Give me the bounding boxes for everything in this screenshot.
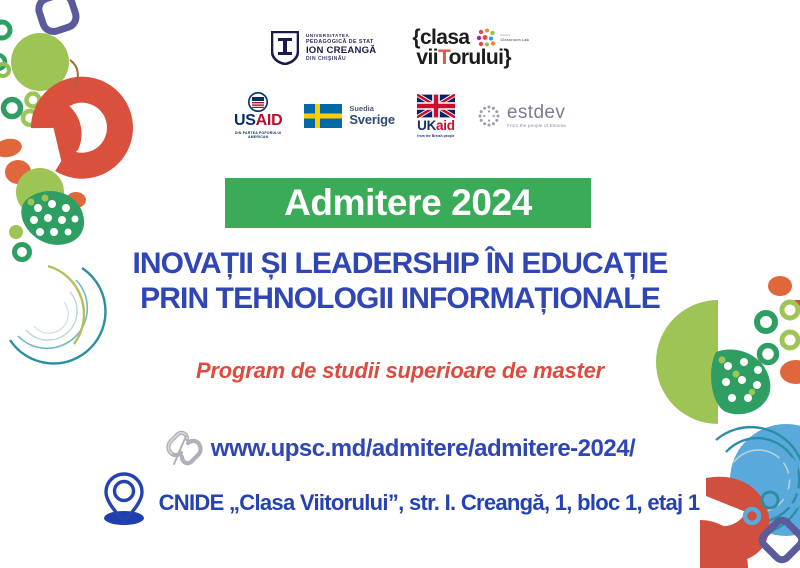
logo-row-primary: UNIVERSITATEA PEDAGOGICĂ DE STAT ION CRE… [0, 28, 800, 68]
logo-row-donors: USAID DIN PARTEA POPORULUI AMERICAN Sued… [0, 92, 800, 140]
logo-sweden: Suedia Sverige [304, 104, 395, 128]
shield-icon [271, 31, 299, 65]
usaid-tagline: DIN PARTEA POPORULUI AMERICAN [235, 131, 281, 140]
ukaid-aid: aid [436, 118, 455, 133]
usaid-aid: AID [256, 112, 283, 129]
upsc-line2: PEDAGOGICĂ DE STAT [306, 39, 376, 45]
clasa-t: T [438, 46, 449, 69]
sweden-line2: Sverige [349, 113, 395, 127]
clasa-word-line2: viiTorului} [416, 48, 511, 68]
address-text: CNIDE „Clasa Viitorului”, str. I. Creang… [159, 490, 700, 516]
ukaid-tagline: from the British people [417, 134, 454, 138]
logo-upsc-ion-creanga: UNIVERSITATEA PEDAGOGICĂ DE STAT ION CRE… [271, 31, 376, 65]
clasa-word-line1: {clasa [412, 28, 469, 48]
upsc-line3: ION CREANGĂ [306, 46, 376, 57]
clasa-orului: orului} [449, 46, 511, 69]
future-classroom-lab-badge: Future Classroom Lab [476, 28, 530, 48]
union-jack-icon [417, 94, 455, 118]
estdev-wordmark: estdev [507, 103, 566, 123]
admission-poster: UNIVERSITATEA PEDAGOGICĂ DE STAT ION CRE… [0, 0, 800, 568]
sweden-flag-icon [304, 104, 342, 128]
website-line[interactable]: www.upsc.md/admitere/admitere-2024/ [0, 430, 800, 468]
admission-banner: Admitere 2024 [225, 178, 591, 228]
dots-cluster-icon [476, 28, 498, 48]
ukaid-wordmark: UKaid [417, 119, 455, 134]
usaid-seal-icon [248, 92, 268, 112]
page-title-line2: PRIN TEHNOLOGII INFORMAȚIONALE [0, 281, 800, 316]
program-subtitle: Program de studii superioare de master [0, 358, 800, 384]
upsc-line4: DIN CHIȘINĂU [306, 57, 376, 63]
website-url[interactable]: www.upsc.md/admitere/admitere-2024/ [211, 435, 635, 463]
link-icon [165, 430, 211, 468]
estdev-ring-icon [477, 104, 501, 128]
page-title-line1: INOVAȚII ȘI LEADERSHIP ÎN EDUCAȚIE [0, 246, 800, 281]
banner-label: Admitere 2024 [284, 182, 532, 224]
map-pin-icon [101, 470, 147, 528]
usaid-wordmark: USAID [234, 113, 282, 129]
logo-clasa-viitorului: {clasa Future Cla [412, 28, 529, 68]
address-line: CNIDE „Clasa Viitorului”, str. I. Creang… [0, 478, 800, 528]
clasa-vii: vii [416, 46, 438, 69]
badge-line2: Classroom Lab [501, 38, 530, 42]
logo-estdev: estdev From the people of Estonia [477, 103, 566, 129]
ukaid-uk: UK [417, 118, 436, 133]
logo-usaid: USAID DIN PARTEA POPORULUI AMERICAN [234, 92, 282, 140]
page-title: INOVAȚII ȘI LEADERSHIP ÎN EDUCAȚIE PRIN … [0, 246, 800, 316]
usaid-tagline-line2: AMERICAN [235, 135, 281, 139]
logo-ukaid: UKaid from the British people [417, 94, 455, 138]
usaid-us: US [234, 112, 256, 129]
estdev-tagline: From the people of Estonia [507, 124, 566, 129]
